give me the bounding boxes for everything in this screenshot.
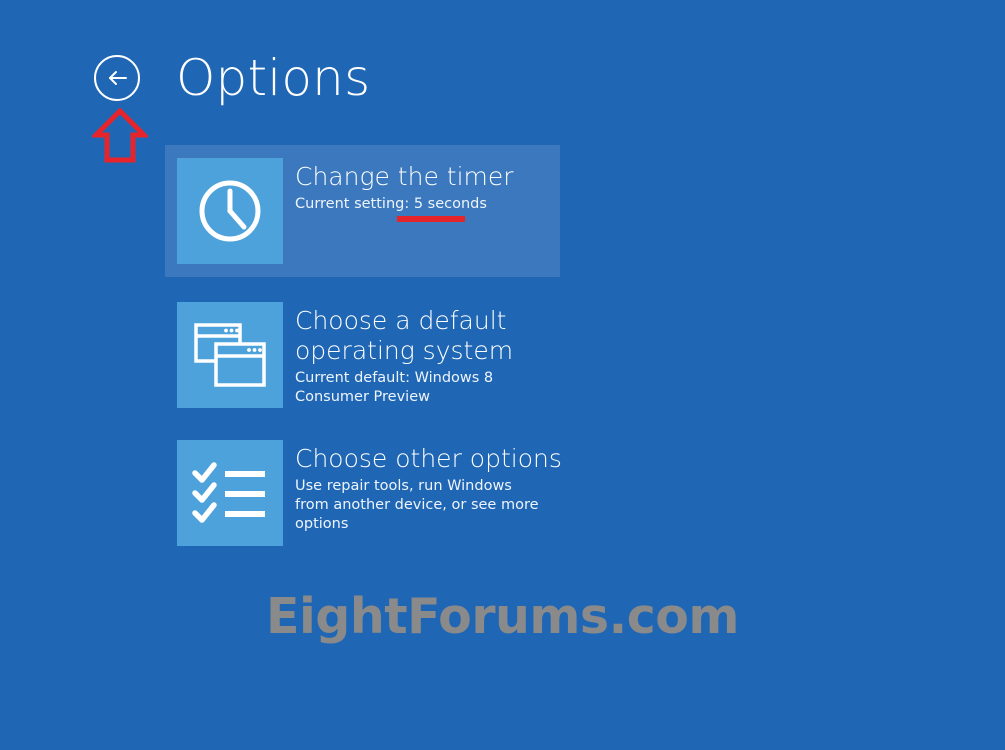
watermark: EightForums.com	[0, 588, 1005, 645]
checklist-icon-tile	[177, 440, 283, 546]
back-button[interactable]	[94, 55, 140, 101]
clock-icon	[194, 175, 266, 247]
option-title: Choose a default operating system	[295, 306, 547, 366]
option-subtitle: Current default: Windows 8 Consumer Prev…	[295, 369, 547, 407]
option-subtitle-text: Current setting: 5 seconds	[295, 196, 487, 212]
option-text: Change the timer Current setting: 5 seco…	[295, 158, 514, 214]
page-title: Options	[176, 53, 370, 103]
tile-spacer	[165, 408, 585, 440]
option-text: Choose other options Use repair tools, r…	[295, 440, 562, 534]
option-title: Change the timer	[295, 162, 514, 192]
header: Options	[94, 47, 370, 109]
boot-options-screen: Options Change the timer Current setting…	[0, 0, 1005, 750]
arrow-left-icon	[105, 66, 129, 90]
up-arrow-annotation-icon	[92, 108, 148, 164]
tile-spacer	[165, 277, 585, 302]
options-list: Change the timer Current setting: 5 seco…	[165, 145, 585, 546]
option-title: Choose other options	[295, 444, 562, 474]
option-change-the-timer[interactable]: Change the timer Current setting: 5 seco…	[165, 145, 560, 277]
clock-icon-tile	[177, 158, 283, 264]
option-choose-other-options[interactable]: Choose other options Use repair tools, r…	[165, 440, 585, 546]
windows-stack-icon	[193, 322, 267, 388]
red-underline-annotation	[397, 216, 465, 222]
checklist-icon	[192, 462, 268, 524]
option-text: Choose a default operating system Curren…	[295, 302, 547, 407]
option-subtitle: Current setting: 5 seconds	[295, 195, 487, 214]
option-subtitle: Use repair tools, run Windows from anoth…	[295, 477, 547, 534]
option-choose-default-os[interactable]: Choose a default operating system Curren…	[165, 302, 585, 408]
windows-stack-icon-tile	[177, 302, 283, 408]
